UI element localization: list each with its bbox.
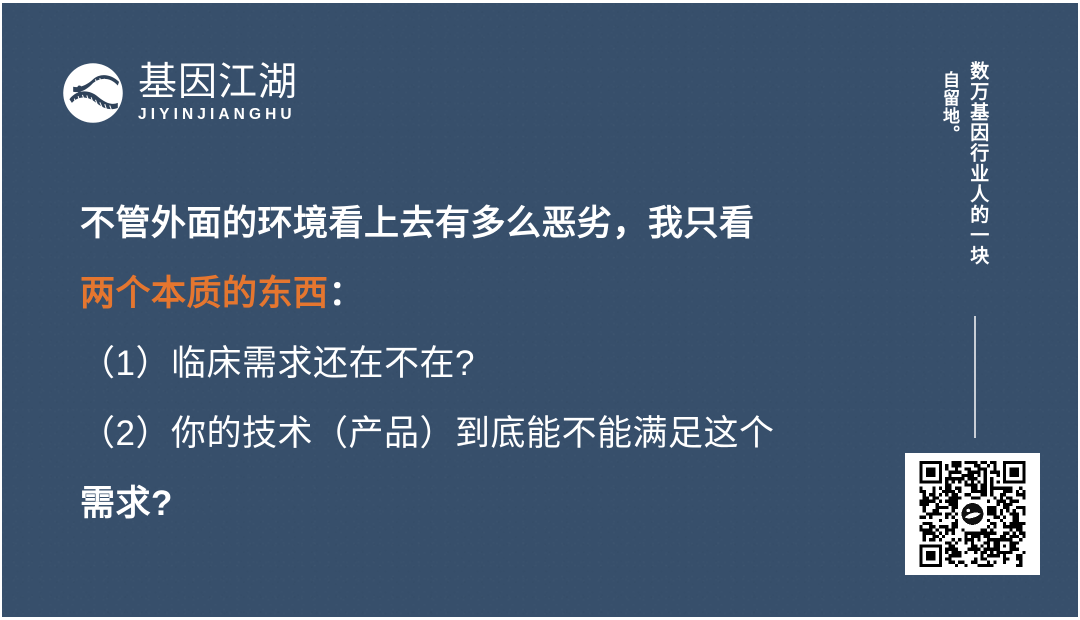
brand-name-cn: 基因江湖 [138,63,298,103]
copy-line-5: 需求? [80,469,890,539]
brand-wordmark: 基因江湖 JIYINJIANGHU [138,63,298,124]
qr-code[interactable] [905,453,1040,575]
copy-line-1: 不管外面的环境看上去有多么恶劣，我只看 [80,189,890,259]
slide-canvas: 基因江湖 JIYINJIANGHU 数万基因行业人的一块 自留地。 不管外面的环… [0,0,1080,620]
tagline-column-secondary: 自留地。 [940,71,959,143]
copy-line-3: （1）临床需求还在不在? [80,329,890,399]
qr-code-matrix [913,461,1032,567]
copy-line-4: （2）你的技术（产品）到底能不能满足这个 [80,399,890,469]
vertical-divider [974,316,976,438]
copy-line-2: 两个本质的东西： [80,259,890,329]
body-copy: 不管外面的环境看上去有多么恶劣，我只看 两个本质的东西： （1）临床需求还在不在… [80,189,890,539]
tagline-column-primary: 数万基因行业人的一块 [967,61,988,266]
dna-helix-circle-logo-icon [62,62,124,124]
brand-lockup: 基因江湖 JIYINJIANGHU [62,61,298,124]
copy-line-2-accent: 两个本质的东西 [80,274,329,313]
brand-name-en: JIYINJIANGHU [138,105,298,124]
qr-center-logo-icon [960,501,986,527]
vertical-tagline: 数万基因行业人的一块 自留地。 [940,61,988,271]
copy-line-2-suffix: ： [329,274,365,313]
